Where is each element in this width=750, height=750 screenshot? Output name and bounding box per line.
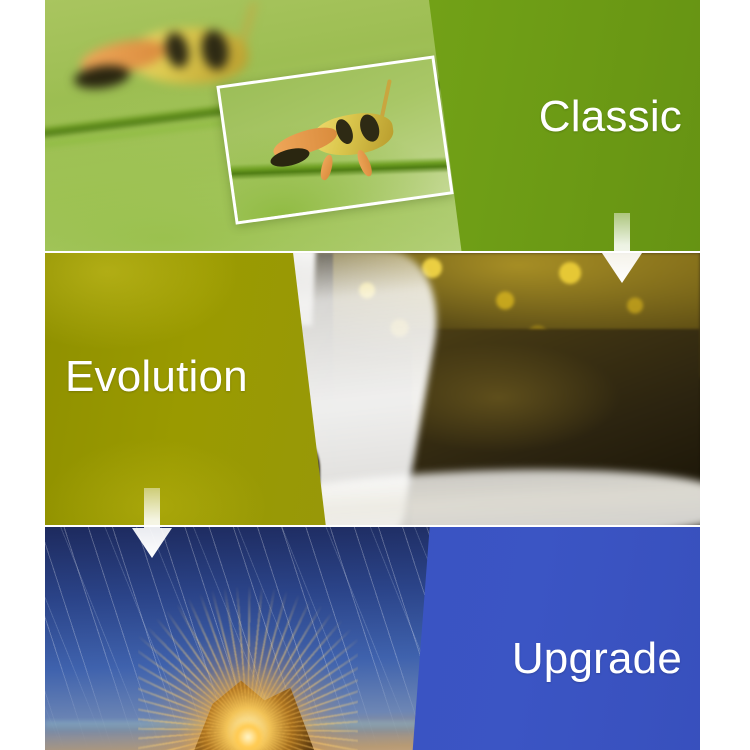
grasshopper-foreleg xyxy=(319,154,335,182)
evolution-label: Evolution xyxy=(65,355,248,399)
upgrade-label: Upgrade xyxy=(512,637,682,681)
panel-upgrade[interactable]: Upgrade xyxy=(45,527,700,750)
upgrade-photo: Upgrade xyxy=(45,527,700,750)
classic-inset-photo xyxy=(220,59,451,221)
spark-core-glow xyxy=(231,720,265,750)
panel-classic[interactable]: Classic xyxy=(45,0,700,251)
classic-photo: Classic xyxy=(45,0,700,251)
classic-label: Classic xyxy=(539,95,682,139)
grasshopper-midleg xyxy=(355,148,375,178)
classic-inset-frame[interactable] xyxy=(216,55,453,224)
banner-stage: Classic Evolution Upgrade xyxy=(0,0,750,750)
panel-evolution[interactable]: Evolution xyxy=(45,253,700,525)
evolution-photo: Evolution xyxy=(45,253,700,525)
